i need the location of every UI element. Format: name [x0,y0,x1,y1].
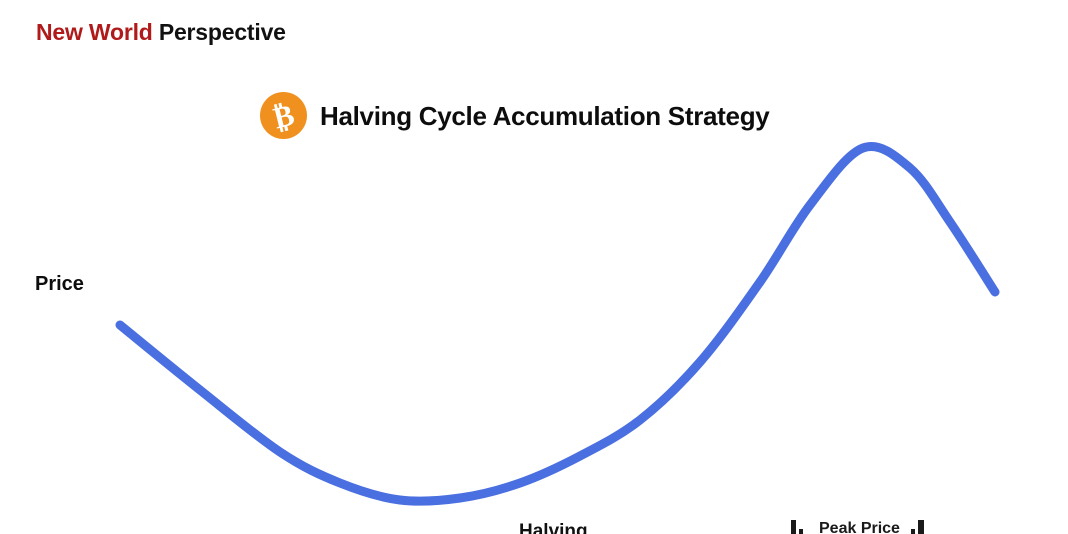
peak-price-label: Peak Price [819,521,900,534]
bar-chart-icon [909,520,929,534]
price-curve [120,146,995,501]
screenshot-canvas: New World Perspective ₿ Halving Cycle Ac… [0,0,1068,534]
bar-chart-icon [790,520,810,534]
peak-price-annotation: Peak Price [790,519,929,534]
price-cycle-chart [0,0,1068,534]
halving-annotation-label: Halving [519,522,588,534]
